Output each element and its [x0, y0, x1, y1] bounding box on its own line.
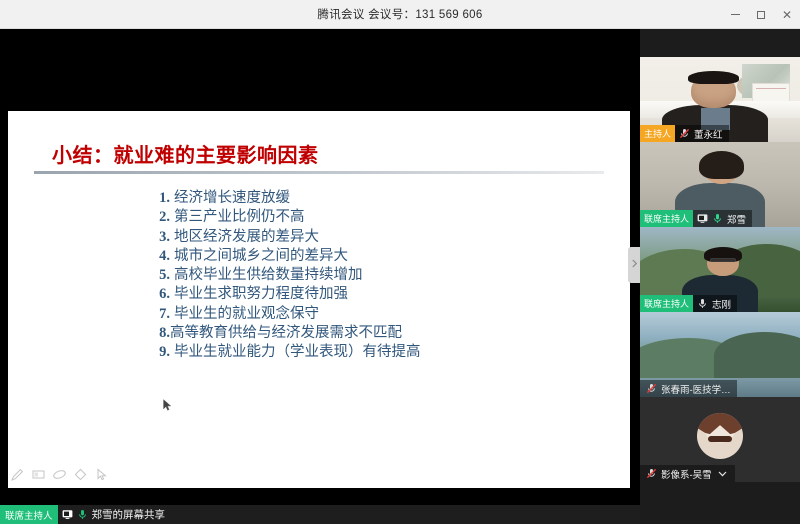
list-item-number: 3.	[148, 228, 170, 247]
screen-share-icon	[62, 509, 73, 520]
list-item-number: 1.	[148, 189, 170, 208]
window-controls: ✕	[722, 0, 800, 29]
mic-muted-icon	[679, 128, 690, 139]
close-icon: ✕	[782, 9, 792, 21]
window-title: 腾讯会议 会议号：131 569 606	[317, 6, 482, 22]
maximize-icon	[757, 11, 765, 19]
list-item-text: 城市之间城乡之间的差异大	[174, 247, 348, 266]
close-button[interactable]: ✕	[774, 0, 800, 29]
participant-name: 张春雨-医技学…	[661, 382, 731, 396]
maximize-button[interactable]	[748, 0, 774, 29]
list-item-number: 9.	[148, 343, 170, 362]
list-item-number: 4.	[148, 247, 170, 266]
mic-on-icon	[77, 509, 88, 520]
participant-tile[interactable]: 主持人 董永红	[640, 57, 800, 142]
shape-icon[interactable]	[73, 467, 88, 482]
chevron-right-icon	[631, 256, 638, 274]
list-item-text: 第三产业比例仍不高	[174, 208, 305, 227]
sidebar-collapse-handle[interactable]	[628, 247, 640, 283]
meeting-window: 腾讯会议 会议号：131 569 606 ✕ 小结：就业难的主要影响因素 1. …	[0, 0, 800, 524]
participant-tile[interactable]: 联席主持人 郑雪	[640, 142, 800, 227]
list-item-number: 7.	[148, 305, 170, 324]
list-item: 2. 第三产业比例仍不高	[148, 208, 421, 227]
list-item-number: 5.	[148, 266, 170, 285]
list-item-text: 毕业生求职努力程度待加强	[174, 285, 348, 304]
shared-screen-stage[interactable]: 小结：就业难的主要影响因素 1. 经济增长速度放缓 2. 第三产业比例仍不高 3…	[0, 29, 640, 524]
decor-person-glasses	[710, 258, 736, 262]
pointer-icon[interactable]	[94, 467, 109, 482]
highlighter-icon[interactable]	[31, 467, 46, 482]
slide-bullet-list: 1. 经济增长速度放缓 2. 第三产业比例仍不高 3. 地区经济发展的差异大 4…	[148, 189, 421, 363]
participant-name-bar: 影像系-吴雪	[640, 465, 735, 482]
list-item: 5. 高校毕业生供给数量持续增加	[148, 266, 421, 285]
list-item-text: 高校毕业生供给数量持续增加	[174, 266, 363, 285]
list-item: 1. 经济增长速度放缓	[148, 189, 421, 208]
list-item-number: 2.	[148, 208, 170, 227]
list-item: 4. 城市之间城乡之间的差异大	[148, 247, 421, 266]
role-badge-host: 主持人	[640, 125, 675, 142]
slide-title-divider	[34, 171, 604, 174]
eraser-icon[interactable]	[52, 467, 67, 482]
role-badge-cohost: 联席主持人	[640, 295, 693, 312]
participant-tile[interactable]: 影像系-吴雪	[640, 397, 800, 482]
mouse-cursor-icon	[163, 398, 172, 410]
screen-share-icon	[697, 213, 708, 224]
participant-tile[interactable]: 张春雨-医技学…	[640, 312, 800, 397]
decor-person-hair	[699, 151, 744, 180]
list-item: 3. 地区经济发展的差异大	[148, 228, 421, 247]
list-item-text: 毕业生的就业观念保守	[174, 305, 319, 324]
annotation-toolbar[interactable]	[10, 467, 109, 482]
participant-name-bar: 联席主持人 志刚	[640, 295, 737, 312]
list-item-text: 毕业生就业能力（学业表现）有待提高	[174, 343, 421, 362]
screen-share-status-bar: 联席主持人 郑雪的屏幕共享	[0, 505, 640, 524]
mic-on-icon	[712, 213, 723, 224]
list-item-number: 6.	[148, 285, 170, 304]
mic-on-icon	[697, 298, 708, 309]
participant-name-bar: 联席主持人 郑雪	[640, 210, 752, 227]
list-item-text: 经济增长速度放缓	[174, 189, 290, 208]
list-item-text: 地区经济发展的差异大	[174, 228, 319, 247]
avatar	[697, 413, 743, 459]
role-badge-cohost: 联席主持人	[640, 210, 693, 227]
list-item-number: 8.	[148, 324, 170, 343]
mic-muted-icon	[646, 383, 657, 394]
participant-name-bar: 主持人 董永红	[640, 125, 729, 142]
decor-background-hill	[714, 332, 800, 381]
chevron-down-icon[interactable]	[716, 467, 729, 480]
list-item: 9. 毕业生就业能力（学业表现）有待提高	[148, 343, 421, 362]
decor-person-hair	[688, 71, 739, 85]
participant-name: 影像系-吴雪	[661, 467, 712, 481]
window-titlebar: 腾讯会议 会议号：131 569 606 ✕	[0, 0, 800, 29]
minimize-button[interactable]	[722, 0, 748, 29]
list-item: 7. 毕业生的就业观念保守	[148, 305, 421, 324]
status-role-badge: 联席主持人	[0, 505, 58, 524]
mic-muted-icon	[646, 468, 657, 479]
pen-icon[interactable]	[10, 467, 25, 482]
participant-name: 志刚	[712, 297, 731, 311]
participant-sidebar: 主持人 董永红 联席主持人	[640, 29, 800, 524]
presentation-slide[interactable]: 小结：就业难的主要影响因素 1. 经济增长速度放缓 2. 第三产业比例仍不高 3…	[8, 111, 630, 488]
participant-tile[interactable]: 联席主持人 志刚	[640, 227, 800, 312]
screen-share-status-text: 郑雪的屏幕共享	[92, 507, 166, 522]
participant-name: 郑雪	[727, 212, 746, 226]
participant-name-bar: 张春雨-医技学…	[640, 380, 737, 397]
slide-title: 小结：就业难的主要影响因素	[52, 139, 319, 168]
list-item: 8. 高等教育供给与经济发展需求不匹配	[148, 324, 421, 343]
participant-name: 董永红	[694, 127, 723, 141]
list-item: 6. 毕业生求职努力程度待加强	[148, 285, 421, 304]
list-item-text: 高等教育供给与经济发展需求不匹配	[170, 324, 402, 343]
minimize-icon	[731, 14, 740, 15]
